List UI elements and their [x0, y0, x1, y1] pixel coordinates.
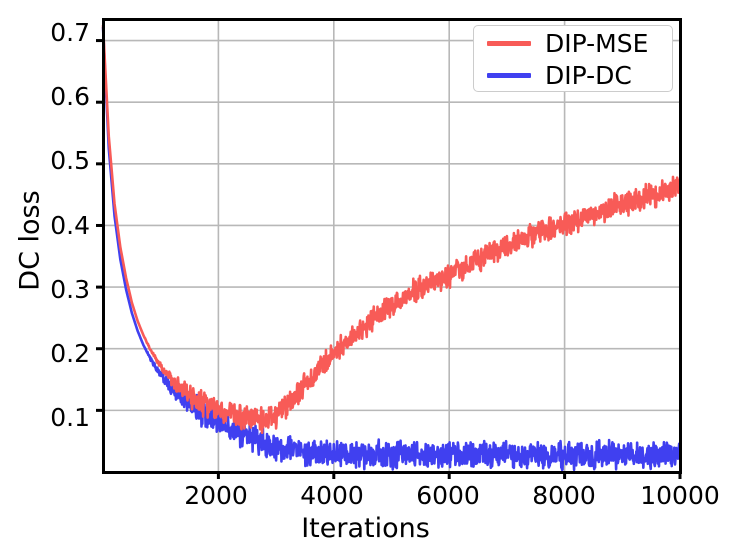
- series-line-dip-dc: [103, 27, 680, 470]
- chart-figure: 0.7 0.6 0.5 0.4 0.3 0.2 0.1 2000 4000 60…: [0, 0, 731, 559]
- ytick-label-0_7: 0.7: [4, 18, 90, 47]
- tick-marks: [96, 41, 680, 479]
- x-axis-label: Iterations: [0, 513, 731, 544]
- legend-label-dip-dc: DIP-DC: [545, 63, 632, 88]
- legend-label-dip-mse: DIP-MSE: [545, 31, 648, 56]
- legend-swatch-dip-dc: [487, 73, 531, 78]
- legend-item-dip-dc: DIP-DC: [474, 59, 674, 92]
- legend-swatch-dip-mse: [487, 41, 531, 46]
- y-axis-label: DC loss: [15, 190, 46, 290]
- y-axis-label-wrapper: DC loss: [15, 61, 46, 421]
- legend-item-dip-mse: DIP-MSE: [474, 27, 674, 60]
- xtick-label-10000: 10000: [610, 481, 731, 510]
- legend: DIP-MSE DIP-DC: [473, 25, 673, 92]
